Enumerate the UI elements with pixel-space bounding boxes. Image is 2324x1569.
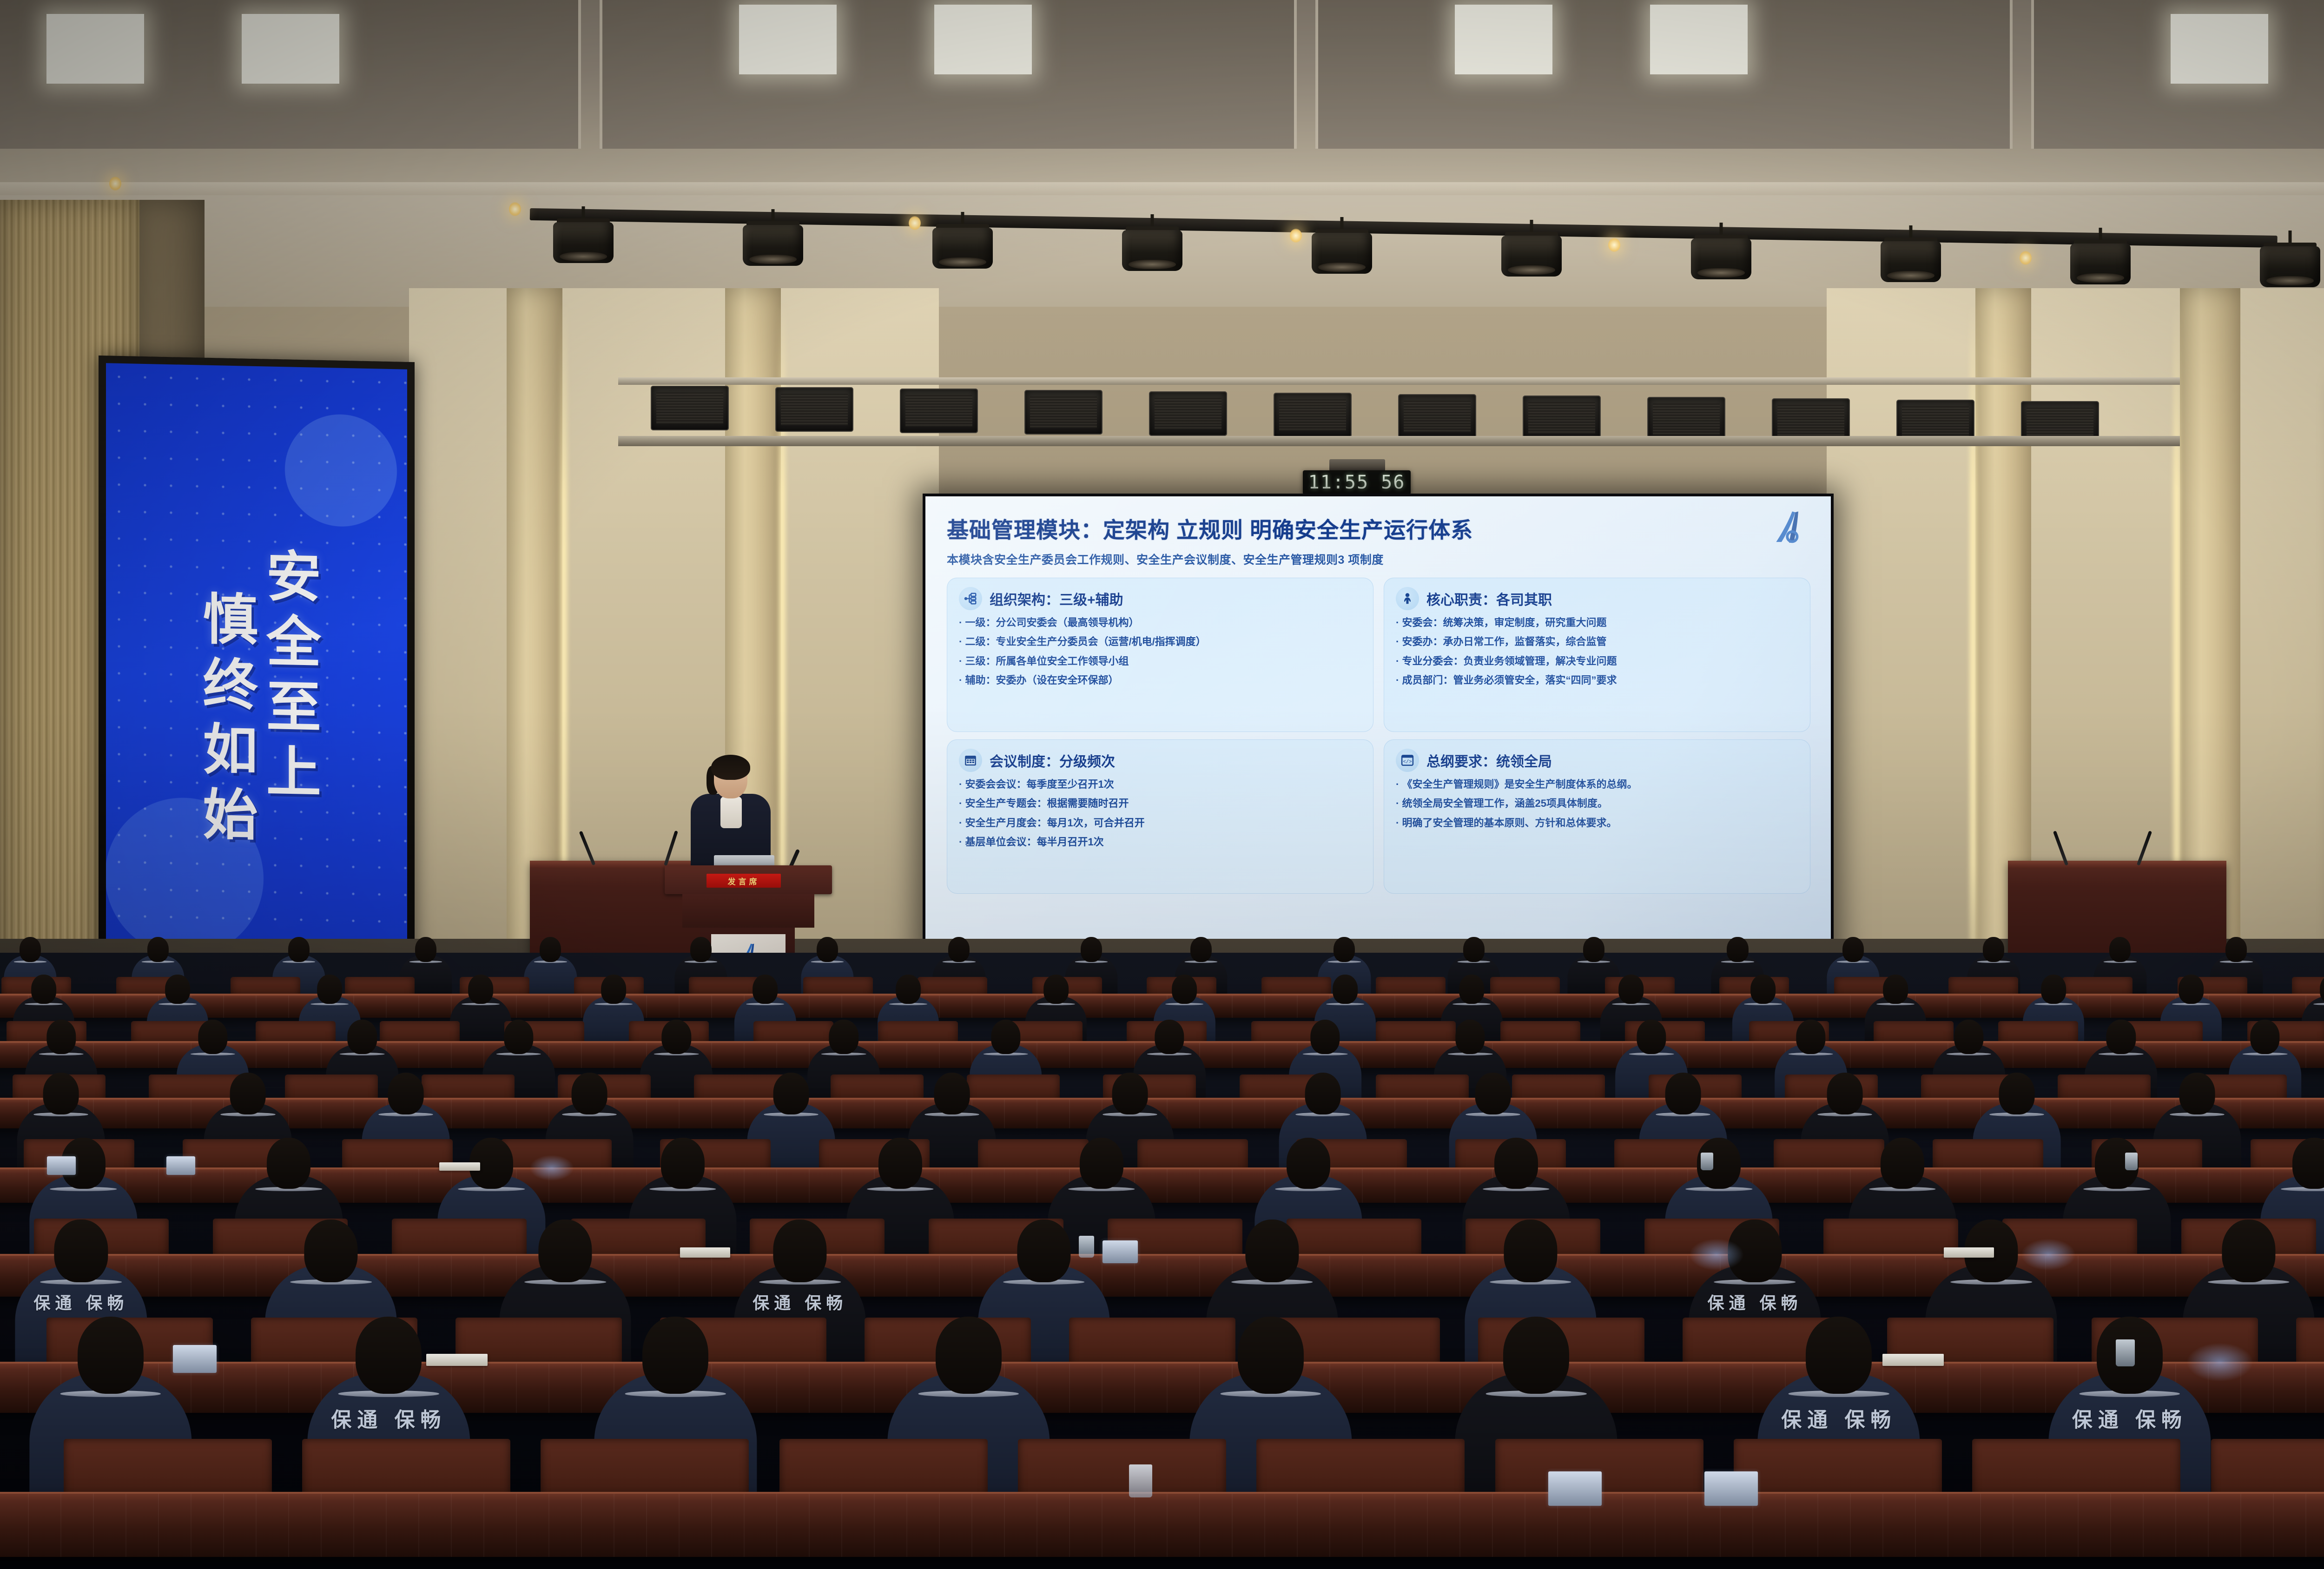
- audience-member-head: [198, 1020, 227, 1054]
- stage-spotlight: [2070, 244, 2131, 290]
- audience-member-head: [934, 1073, 970, 1114]
- spotlight-body: [2260, 246, 2320, 287]
- av-speaker-box: [775, 387, 853, 432]
- audience-member-head: [348, 1020, 377, 1054]
- audience-member-head: [991, 1020, 1020, 1054]
- audience-member-head: [661, 1020, 691, 1054]
- audience-member-head: [31, 975, 56, 1004]
- audience-member-head: [1883, 975, 1908, 1004]
- stage-spotlight: [1122, 230, 1182, 277]
- ceiling-panel-light: [1455, 5, 1552, 74]
- ceiling-accent-lamp: [109, 177, 121, 191]
- water-cup: [1701, 1153, 1713, 1170]
- audience-member-head: [773, 1073, 809, 1114]
- audience-member-head: [936, 1317, 1002, 1394]
- audience-member-head: [829, 1020, 858, 1054]
- hebei-expressway-logo-icon: [1769, 508, 1807, 548]
- card-list-item: 安全生产专题会：根据需要随时召开: [959, 798, 1362, 809]
- audience-member-head: [288, 937, 310, 962]
- audience-member-head: [878, 1138, 922, 1189]
- slide-subtitle: 本模块含安全生产委员会工作规则、安全生产会议制度、安全生产管理规则3 项制度: [947, 551, 1810, 567]
- card-list-item: 二级：专业安全生产分委员会（运营/机电/指挥调度）: [959, 636, 1362, 647]
- desk-wood-grain: [0, 1494, 2324, 1557]
- slide-card-1: 组织架构：三级+辅助一级：分公司安委会（最高领导机构）二级：专业安全生产分委员会…: [947, 578, 1373, 732]
- stage-spotlight: [2260, 246, 2320, 293]
- spotlight-lens: [2077, 273, 2124, 283]
- audience-member-head: [1494, 1138, 1538, 1189]
- desk-tablet-screen: [173, 1345, 217, 1373]
- card-header: 核心职责：各司其职: [1396, 587, 1799, 610]
- slide-card-grid: 组织架构：三级+辅助一级：分公司安委会（最高领导机构）二级：专业安全生产分委员会…: [947, 578, 1810, 894]
- ceiling-panel-light: [242, 14, 339, 84]
- audience-member-head: [1983, 937, 2004, 962]
- desk-tablet-screen: [47, 1156, 76, 1175]
- spotlight-body: [1881, 241, 1941, 282]
- uniform-back-text: 保通 保畅: [33, 1290, 128, 1314]
- audience-desk-row: [0, 1167, 2324, 1203]
- audience-member-head: [2222, 1220, 2275, 1282]
- audience-member-head: [2250, 1020, 2279, 1054]
- audience-member-head: [1750, 975, 1776, 1004]
- audience-member-head: [2106, 1020, 2136, 1054]
- audience-member-head: [2179, 975, 2204, 1004]
- audience-member-head: [1827, 1073, 1863, 1114]
- card-list-item: 专业分委会：负责业务领域管理，解决专业问题: [1396, 655, 1799, 667]
- card-header: 组织架构：三级+辅助: [959, 587, 1362, 610]
- audience-member-head: [1727, 937, 1748, 962]
- card-list: 安委会：统筹决策，审定制度，研究重大问题安委办：承办日常工作，监督落实，综合监管…: [1396, 617, 1799, 686]
- audience-member-head: [304, 1220, 358, 1282]
- audience-member-head: [539, 1220, 592, 1282]
- card-list-item: 基层单位会议：每半月召开1次: [959, 836, 1362, 848]
- led-left-column-1: 安全至上: [260, 547, 316, 809]
- spotlight-body: [1312, 233, 1372, 274]
- podium-plaque: 发言席: [706, 874, 781, 888]
- audience-member-head: [773, 1220, 827, 1282]
- audience-member-head: [1310, 1020, 1340, 1054]
- ceiling-panel-light: [739, 5, 837, 74]
- card-list-item: 安全生产月度会：每月1次，可合并召开: [959, 817, 1362, 829]
- card-title: 核心职责：各司其职: [1426, 588, 1552, 609]
- card-list-item: 安委办：承办日常工作，监督落实，综合监管: [1396, 636, 1799, 647]
- water-cup: [1129, 1464, 1152, 1497]
- audience-member-head: [1619, 975, 1644, 1004]
- desk-tablet-screen: [1548, 1471, 1602, 1506]
- av-speaker-box: [1024, 390, 1103, 435]
- audience-member-head: [415, 937, 436, 962]
- av-speaker-box: [1149, 391, 1227, 436]
- audience-member-head: [1583, 937, 1604, 962]
- audience-member-head: [1637, 1020, 1666, 1054]
- audience-member-head: [1954, 1020, 1983, 1054]
- audience-member-head: [1112, 1073, 1148, 1114]
- card-list: 安委会会议：每季度至少召开1次安全生产专题会：根据需要随时召开安全生产月度会：每…: [959, 778, 1362, 848]
- audience-member-head: [78, 1317, 144, 1394]
- digital-clock: 11:55 56: [1303, 470, 1411, 494]
- audience-member-head: [817, 937, 838, 962]
- audience-member-head: [1172, 975, 1197, 1004]
- audience-member-head: [165, 975, 190, 1004]
- audience-member-head: [1504, 1220, 1557, 1282]
- audience-member-head: [1463, 937, 1485, 962]
- card-list-item: 辅助：安委办（设在安全环保部）: [959, 674, 1362, 686]
- audience-member-head: [601, 975, 626, 1004]
- clock-time: 11:55 56: [1308, 473, 1406, 492]
- stage-spotlight: [1501, 236, 1562, 282]
- audience-member-head: [642, 1317, 708, 1394]
- podium-body: [682, 894, 814, 928]
- audience-area: 保通 保畅保通 保畅保通 保畅保通 保畅保通 保畅保通 保畅保通 保畅保通 保畅: [0, 953, 2324, 1569]
- uniform-back-text: 保通 保畅: [753, 1290, 847, 1314]
- spotlight-body: [932, 228, 993, 269]
- audience-member-head: [504, 1020, 533, 1054]
- audience-member-head: [2041, 975, 2066, 1004]
- audience-member-head: [948, 937, 970, 962]
- desk-tablet-screen: [1103, 1240, 1138, 1263]
- audience-member-head: [1245, 1220, 1299, 1282]
- card-title: 会议制度：分级频次: [990, 750, 1115, 771]
- slide-card-2: 核心职责：各司其职安委会：统筹决策，审定制度，研究重大问题安委办：承办日常工作，…: [1384, 578, 1810, 732]
- device-screen-glow: [529, 1155, 574, 1181]
- card-list: 《安全生产管理规则》是安全生产制度体系的总纲。统领全局安全管理工作，涵盖25项具…: [1396, 778, 1799, 829]
- stage-spotlight: [932, 228, 993, 274]
- audience-member-head: [20, 937, 41, 962]
- water-cup: [2125, 1153, 2138, 1170]
- card-title: 总纲要求：统领全局: [1426, 750, 1552, 771]
- spotlight-lens: [1508, 265, 1555, 275]
- uniform-back-text: 保通 保畅: [1781, 1403, 1896, 1433]
- card-list-item: 安委会：统筹决策，审定制度，研究重大问题: [1396, 617, 1799, 628]
- card-list-item: 明确了安全管理的基本原则、方针和总体要求。: [1396, 817, 1799, 829]
- spotlight-body: [1691, 238, 1751, 279]
- av-rail-bottom: [618, 436, 2180, 446]
- card-list-item: 安委会会议：每季度至少召开1次: [959, 778, 1362, 790]
- ceiling-panel-light: [934, 5, 1032, 74]
- spotlight-lens: [2266, 276, 2314, 285]
- device-screen-glow: [2186, 1343, 2253, 1382]
- spotlight-body: [553, 222, 614, 263]
- spotlight-lens: [560, 252, 607, 261]
- ceiling-panel-light: [1650, 5, 1748, 74]
- audience-member-head: [468, 975, 493, 1004]
- audience-member-head: [1999, 1073, 2035, 1114]
- audience-member-head: [2109, 937, 2131, 962]
- card-list: 一级：分公司安委会（最高领导机构）二级：专业安全生产分委员会（运营/机电/指挥调…: [959, 617, 1362, 686]
- ceiling-accent-lamp: [2020, 251, 2032, 265]
- spotlight-body: [1501, 236, 1562, 277]
- document-code-icon: </>: [1396, 749, 1419, 772]
- audience-member-head: [2225, 937, 2247, 962]
- audience-member-head: [267, 1138, 310, 1189]
- av-speaker-box: [651, 386, 729, 430]
- stage-spotlight: [1881, 241, 1941, 288]
- spotlight-lens: [939, 257, 986, 267]
- av-speaker-box: [1274, 393, 1352, 437]
- audience-member-head: [230, 1073, 266, 1114]
- conference-hall-scene: 11:55 56 基础管理模块：定架构 立规则 明确安全生产运行体系 本模块含安…: [0, 0, 2324, 1569]
- av-speaker-row: [651, 386, 2138, 437]
- device-screen-glow: [2021, 1239, 2076, 1271]
- spotlight-lens: [1129, 260, 1176, 269]
- ceiling-accent-lamp: [1608, 238, 1620, 252]
- spotlight-lens: [1318, 263, 1366, 272]
- audience-member-head: [54, 1220, 108, 1282]
- audience-member-head: [388, 1073, 423, 1114]
- stage-spotlight: [1691, 238, 1751, 285]
- slide-card-3: 会议制度：分级频次安委会会议：每季度至少召开1次安全生产专题会：根据需要随时召开…: [947, 739, 1373, 894]
- audience-desk-row: [0, 1492, 2324, 1557]
- spotlight-lens: [1887, 271, 1934, 280]
- desk-paper: [1944, 1247, 1994, 1258]
- desk-tablet-screen: [166, 1156, 195, 1175]
- led-banner-left: 安全至上 慎终如始: [99, 356, 415, 1017]
- av-speaker-box: [900, 389, 978, 433]
- speaker-hair: [711, 755, 750, 780]
- uniform-back-text: 保通 保畅: [1707, 1290, 1802, 1314]
- spotlight-body: [2070, 244, 2131, 284]
- audience-member-head: [1305, 1073, 1341, 1114]
- audience-member-head: [1665, 1073, 1701, 1114]
- card-list-item: 《安全生产管理规则》是安全生产制度体系的总纲。: [1396, 778, 1799, 790]
- clock-mount-bracket: [1329, 459, 1385, 471]
- water-cup: [2116, 1339, 2135, 1366]
- svg-text:</>: </>: [1403, 759, 1412, 765]
- audience-member-head: [356, 1317, 422, 1394]
- card-header: </>总纲要求：统领全局: [1396, 749, 1799, 772]
- card-title: 组织架构：三级+辅助: [990, 588, 1123, 609]
- audience-member-head: [1238, 1317, 1304, 1394]
- audience-member-head: [1475, 1073, 1511, 1114]
- desk-paper: [439, 1162, 480, 1171]
- spotlight-lens: [1697, 268, 1745, 277]
- audience-member-head: [690, 937, 712, 962]
- projection-screen: 基础管理模块：定架构 立规则 明确安全生产运行体系 本模块含安全生产委员会工作规…: [923, 494, 1834, 963]
- audience-member-head: [317, 975, 343, 1004]
- spotlight-lens: [749, 255, 797, 264]
- audience-member-head: [1806, 1317, 1872, 1394]
- slide-card-4: </>总纲要求：统领全局《安全生产管理规则》是安全生产制度体系的总纲。统领全局安…: [1384, 739, 1810, 894]
- av-speaker-box: [1647, 397, 1725, 442]
- audience-member-head: [1333, 975, 1358, 1004]
- ceiling-panel-light: [46, 14, 144, 84]
- audience-member-head: [896, 975, 921, 1004]
- audience-member-head: [572, 1073, 607, 1114]
- audience-member-head: [1459, 975, 1485, 1004]
- audience-member-head: [1796, 1020, 1825, 1054]
- audience-member-head: [1334, 937, 1355, 962]
- card-list-item: 一级：分公司安委会（最高领导机构）: [959, 617, 1362, 628]
- desk-paper: [1882, 1354, 1944, 1366]
- presentation-slide: 基础管理模块：定架构 立规则 明确安全生产运行体系 本模块含安全生产委员会工作规…: [925, 496, 1831, 960]
- ceiling-panel-light: [2171, 14, 2268, 84]
- stage-spotlight: [1312, 233, 1372, 279]
- card-list-item: 成员部门：管业务必须管安全，落实“四同”要求: [1396, 674, 1799, 686]
- audience-member-head: [1287, 1138, 1330, 1189]
- ceiling-accent-lamp: [509, 202, 521, 216]
- stage-spotlight: [553, 222, 614, 269]
- desk-paper: [426, 1354, 488, 1366]
- audience-member-head: [1155, 1020, 1184, 1054]
- calendar-icon: [959, 749, 982, 772]
- slide-title: 基础管理模块：定架构 立规则 明确安全生产运行体系: [947, 512, 1810, 544]
- audience-member-head: [1842, 937, 1864, 962]
- ceiling-accent-lamp: [1290, 229, 1302, 243]
- spotlight-body: [743, 225, 803, 266]
- av-speaker-box: [1398, 394, 1476, 439]
- audience-member-head: [46, 1020, 76, 1054]
- audience-member-head: [1190, 937, 1212, 962]
- audience-member-head: [1455, 1020, 1485, 1054]
- av-speaker-box: [1523, 396, 1601, 440]
- av-rail-top: [618, 377, 2180, 385]
- water-cup: [1079, 1236, 1094, 1258]
- audience-member-head: [1881, 1138, 1924, 1189]
- desk-wood-grain: [0, 1169, 2324, 1203]
- card-header: 会议制度：分级频次: [959, 749, 1362, 772]
- uniform-back-text: 保通 保畅: [331, 1403, 446, 1433]
- audience-member-head: [1080, 1138, 1123, 1189]
- audience-member-head: [660, 1138, 704, 1189]
- audience-member-head: [753, 975, 778, 1004]
- audience-member-head: [1017, 1220, 1070, 1282]
- audience-member-head: [1043, 975, 1069, 1004]
- audience-member-head: [147, 937, 169, 962]
- led-left-column-2: 慎终如始: [197, 590, 253, 851]
- audience-member-head: [1081, 937, 1102, 962]
- podium-plaque-label: 发言席: [728, 875, 760, 887]
- desk-paper: [680, 1247, 730, 1258]
- card-list-item: 三级：所属各单位安全工作领导小组: [959, 655, 1362, 667]
- person-icon: [1396, 587, 1419, 610]
- audience-member-head: [2179, 1073, 2215, 1114]
- stage-spotlight: [743, 225, 803, 271]
- ceiling-accent-lamp: [909, 216, 921, 230]
- audience-member-head: [43, 1073, 79, 1114]
- audience-member-head: [1503, 1317, 1569, 1394]
- audience-member-head: [540, 937, 561, 962]
- uniform-back-text: 保通 保畅: [2072, 1403, 2187, 1433]
- device-screen-glow: [1689, 1239, 1744, 1271]
- card-list-item: 统领全局安全管理工作，涵盖25项具体制度。: [1396, 798, 1799, 809]
- desk-tablet-screen: [1704, 1471, 1758, 1506]
- org-chart-icon: [959, 587, 982, 610]
- spotlight-body: [1122, 230, 1182, 271]
